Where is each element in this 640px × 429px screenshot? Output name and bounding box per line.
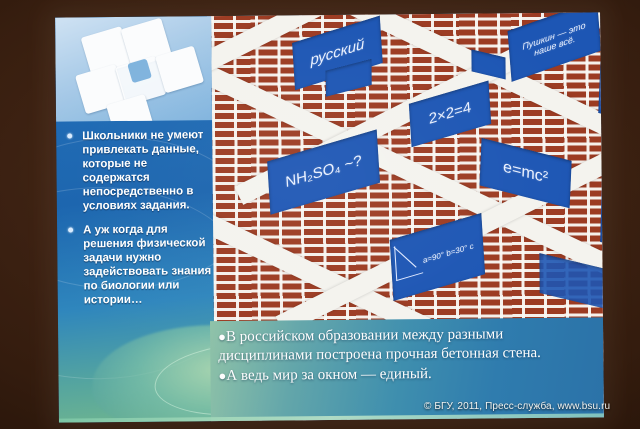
projected-slide: русский Пушкин — это наше всё. English a… — [55, 12, 604, 422]
photograph-of-projection-screen: русский Пушкин — это наше всё. English a… — [0, 0, 640, 429]
caption-bullet-icon: ● — [218, 368, 226, 383]
arithmetic-board-text: 2×2=4 — [425, 96, 475, 131]
caption-text-2: А ведь мир за окном — единый. — [226, 366, 432, 384]
chemistry-board-text: NH₂SO₄ ~? — [282, 150, 366, 195]
copyright-watermark: © БГУ, 2011, Пресс-служба, www.bsu.ru — [424, 401, 610, 412]
bullet-text-2: А уж когда для решения физической задачи… — [83, 224, 211, 307]
triangle-icon — [394, 239, 423, 281]
list-item: А уж когда для решения физической задачи… — [67, 222, 215, 308]
caption-line-1: ●В российском образовании между разными … — [218, 324, 593, 366]
slide-sidebar: Школьники не умеют привлекать данные, ко… — [55, 16, 215, 422]
bullet-text-1: Школьники не умеют привлекать данные, ко… — [82, 129, 203, 212]
physics-board-text: e=mc² — [500, 156, 552, 191]
geometry-board-text: a=90° b=30° c — [420, 239, 477, 269]
caption-text-1: В российском образовании между разными д… — [218, 326, 541, 364]
list-item: Школьники не умеют привлекать данные, ко… — [66, 128, 215, 214]
caption-bullet-icon: ● — [218, 329, 226, 344]
caption-line-2: ●А ведь мир за окном — единый. — [218, 364, 593, 387]
jigsaw-puzzle-graphic — [55, 16, 212, 121]
sidebar-bullet-list: Школьники не умеют привлекать данные, ко… — [66, 128, 215, 318]
